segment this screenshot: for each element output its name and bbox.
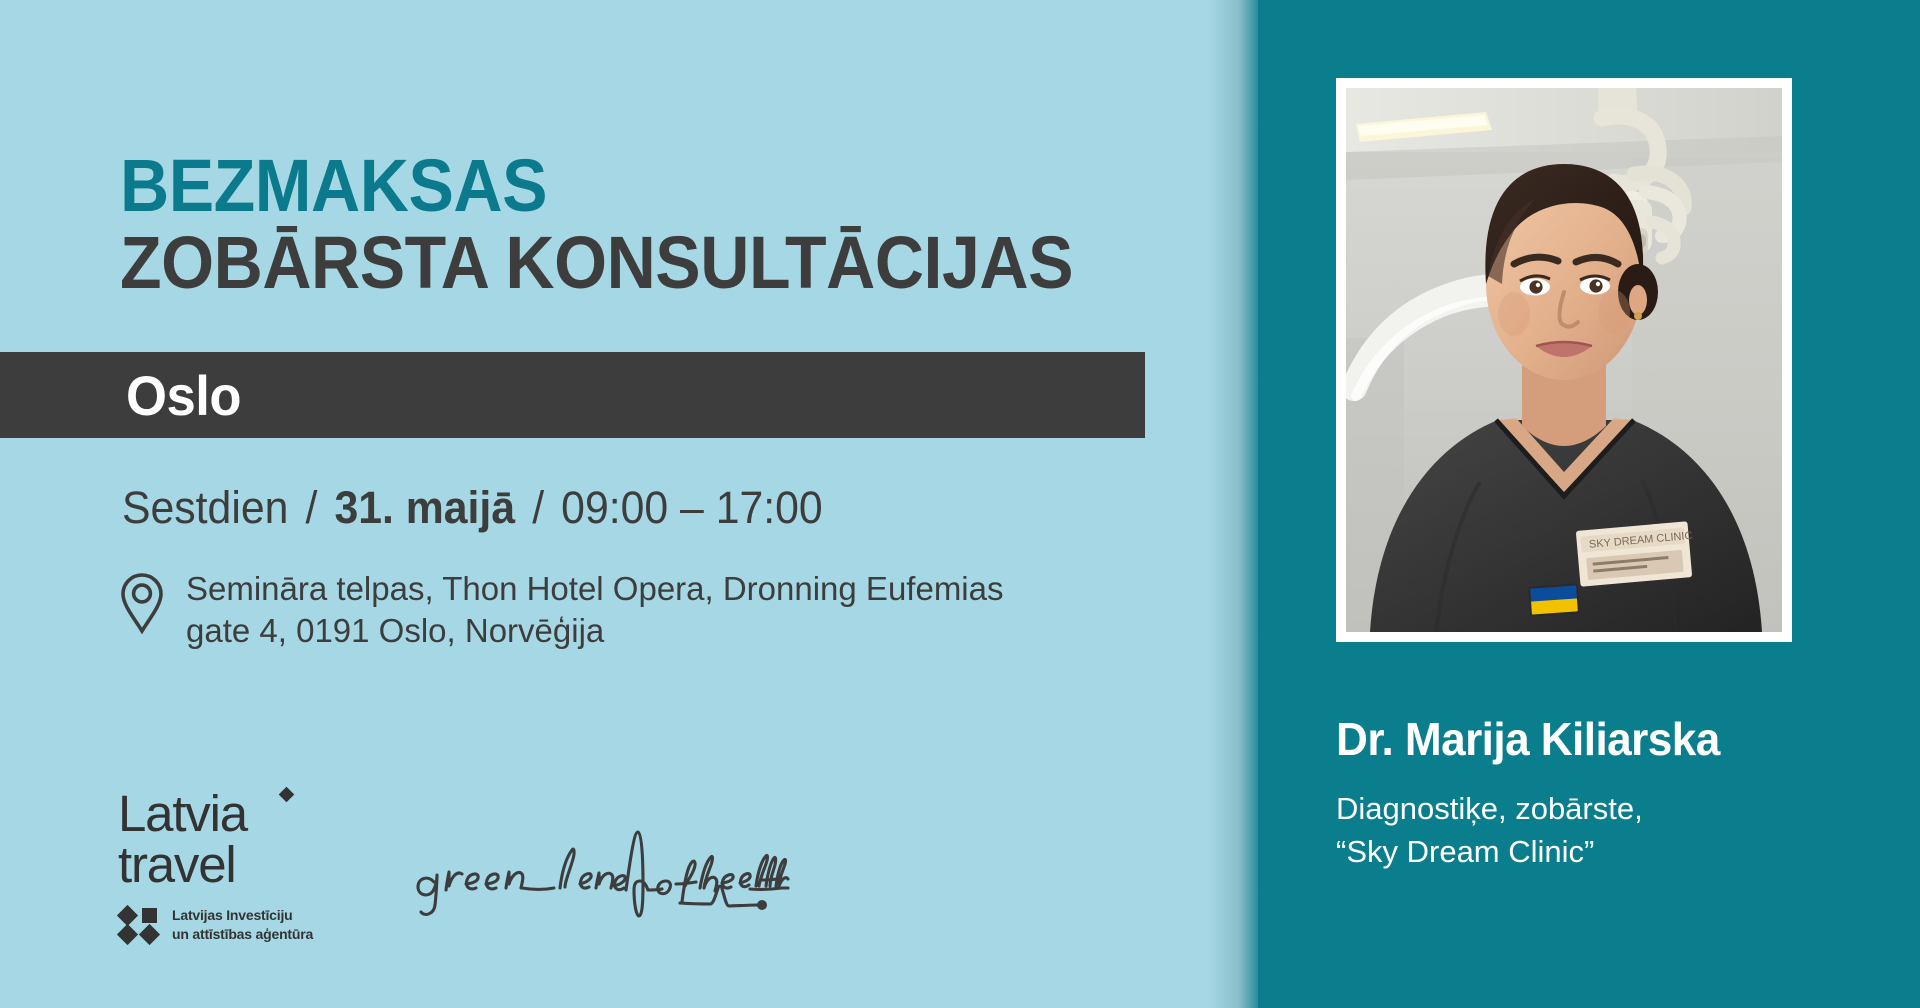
date-separator-2: / bbox=[532, 482, 544, 534]
date-time-line: Sestdien / 31. maijā / 09:00 – 17:00 bbox=[122, 482, 823, 534]
doctor-photo-frame: SKY DREAM CLINIC bbox=[1336, 78, 1792, 642]
address-row: Semināra telpas, Thon Hotel Opera, Dronn… bbox=[120, 568, 1120, 652]
date-separator-1: / bbox=[305, 482, 317, 534]
liaa-shapes-icon bbox=[118, 906, 162, 944]
headline-block: BEZMAKSAS ZOBĀRSTA KONSULTĀCIJAS bbox=[120, 150, 1180, 298]
doctor-photo: SKY DREAM CLINIC bbox=[1346, 88, 1782, 632]
latvia-travel-logo: Latvia travel Latvijas Investīciju un at… bbox=[118, 790, 348, 944]
event-banner: BEZMAKSAS ZOBĀRSTA KONSULTĀCIJAS Oslo Se… bbox=[0, 0, 1920, 1008]
doctor-name: Dr. Marija Kiliarska bbox=[1336, 712, 1720, 766]
address-line-1: Semināra telpas, Thon Hotel Opera, Dronn… bbox=[186, 568, 1004, 610]
doctor-role-line-1: Diagnostiķe, zobārste, bbox=[1336, 788, 1643, 831]
logo-row: Latvia travel Latvijas Investīciju un at… bbox=[118, 790, 810, 1008]
latvia-logo-word-2: travel bbox=[118, 841, 348, 890]
doctor-role-line-2: “Sky Dream Clinic” bbox=[1336, 831, 1643, 874]
panel-gradient-seam bbox=[1208, 0, 1264, 1008]
weekday-label: Sestdien bbox=[122, 482, 288, 534]
city-name: Oslo bbox=[126, 363, 241, 428]
date-label: 31. maijā bbox=[334, 482, 515, 534]
latvia-logo-word-1: Latvia bbox=[118, 790, 348, 839]
headline-line-2: ZOBĀRSTA KONSULTĀCIJAS bbox=[120, 227, 1095, 298]
address-text: Semināra telpas, Thon Hotel Opera, Dronn… bbox=[186, 568, 1004, 652]
city-bar: Oslo bbox=[0, 352, 1145, 438]
address-line-2: gate 4, 0191 Oslo, Norvēģija bbox=[186, 610, 1004, 652]
liaa-agency-mark: Latvijas Investīciju un attīstības aģent… bbox=[118, 906, 348, 944]
liaa-agency-text: Latvijas Investīciju un attīstības aģent… bbox=[172, 906, 313, 944]
liaa-text-line-2: un attīstības aģentūra bbox=[172, 925, 313, 944]
time-range-label: 09:00 – 17:00 bbox=[561, 482, 823, 534]
liaa-text-line-1: Latvijas Investīciju bbox=[172, 906, 313, 925]
green-land-of-health-logo bbox=[410, 818, 810, 1008]
doctor-role: Diagnostiķe, zobārste, “Sky Dream Clinic… bbox=[1336, 788, 1643, 874]
right-panel: SKY DREAM CLINIC Dr. Marija Kiliarska Di bbox=[1258, 0, 1920, 1008]
headline-line-1: BEZMAKSAS bbox=[120, 150, 1095, 221]
location-pin-icon bbox=[120, 572, 164, 634]
left-content-area: BEZMAKSAS ZOBĀRSTA KONSULTĀCIJAS Oslo Se… bbox=[0, 0, 1258, 1008]
